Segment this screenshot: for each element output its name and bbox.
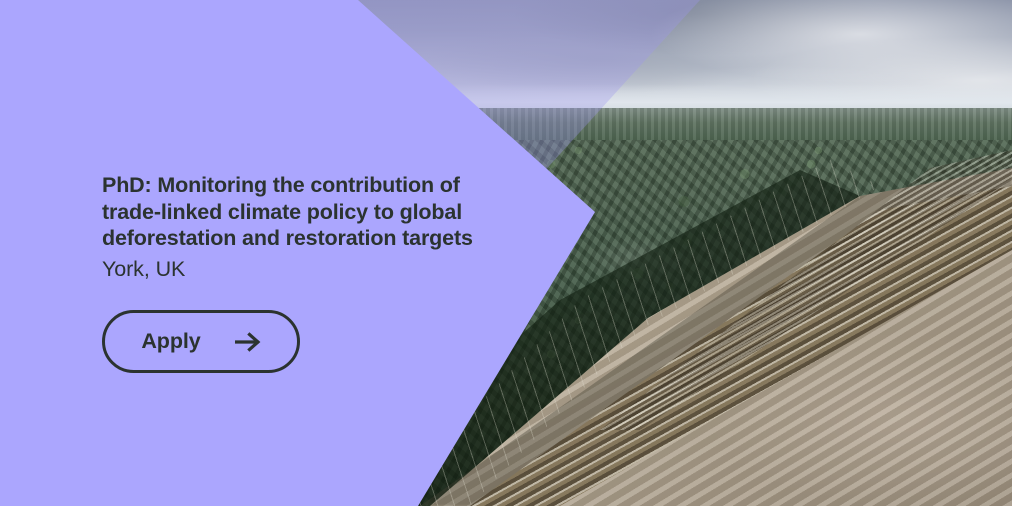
job-title-line-2: trade-linked climate policy to global [102, 199, 522, 226]
job-title-line-1: PhD: Monitoring the contribution of [102, 172, 522, 199]
apply-button-label: Apply [141, 329, 200, 354]
banner-content: PhD: Monitoring the contribution of trad… [102, 0, 532, 506]
job-title: PhD: Monitoring the contribution of trad… [102, 172, 522, 252]
arrow-right-icon [235, 332, 261, 352]
job-advert-banner: PhD: Monitoring the contribution of trad… [0, 0, 1012, 506]
job-location: York, UK [102, 256, 185, 282]
job-title-line-3: deforestation and restoration targets [102, 225, 522, 252]
apply-button[interactable]: Apply [102, 310, 300, 373]
